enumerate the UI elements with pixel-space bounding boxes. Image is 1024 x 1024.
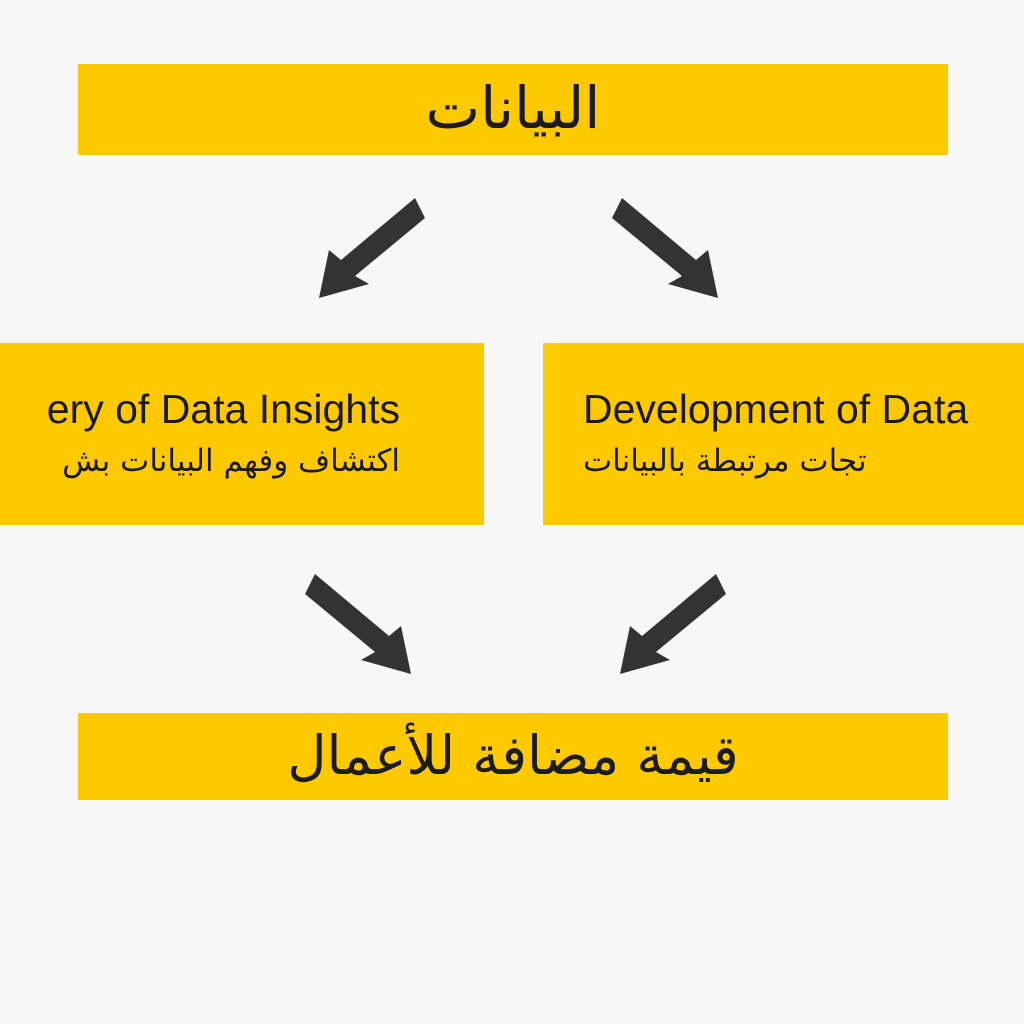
diagram-canvas: البيانات ery of Data Insights اكتشاف وفه…: [0, 0, 1024, 1024]
arrow-data-to-insights: [303, 192, 425, 304]
node-insights-label-en: ery of Data Insights: [47, 387, 400, 431]
arrow-down-left-icon: [319, 198, 425, 298]
arrow-down-right-icon: [305, 574, 411, 674]
arrow-data-to-products: [612, 192, 734, 304]
node-products-label-en: Development of Data: [583, 387, 968, 431]
node-data[interactable]: البيانات: [78, 64, 948, 155]
arrow-products-to-value: [604, 568, 726, 680]
node-value[interactable]: قيمة مضافة للأعمال: [78, 713, 948, 800]
node-insights[interactable]: ery of Data Insights اكتشاف وفهم البيانا…: [0, 343, 484, 525]
arrow-down-left-icon: [620, 574, 726, 674]
node-insights-label-ar: اكتشاف وفهم البيانات بش: [62, 442, 400, 481]
node-products[interactable]: Development of Data تجات مرتبطة بالبيانا…: [543, 343, 1024, 525]
node-products-label-ar: تجات مرتبطة بالبيانات: [583, 442, 867, 481]
node-value-label-ar: قيمة مضافة للأعمال: [287, 729, 738, 783]
arrow-down-right-icon: [612, 198, 718, 298]
node-data-label-ar: البيانات: [426, 79, 601, 137]
arrow-insights-to-value: [305, 568, 427, 680]
